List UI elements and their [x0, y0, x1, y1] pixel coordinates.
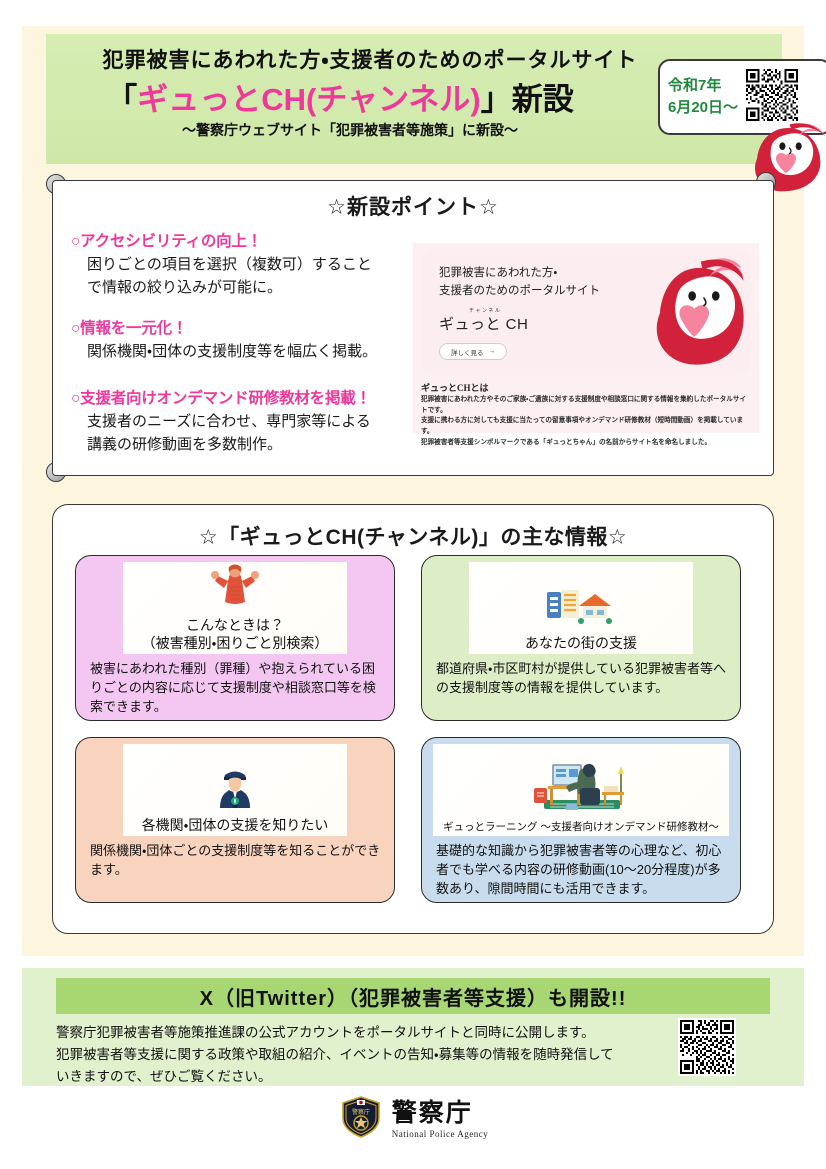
point-1-body: 困りごとの項目を選択（複数可）すること で情報の絞り込みが可能に。 — [71, 254, 437, 299]
npa-logo-text: 警察庁 National Police Agency — [392, 1101, 488, 1139]
x-twitter-body-line-1: 警察庁犯罪被害者等施策推進課の公式アカウントをポータルサイトと同時に公開します。 — [56, 1022, 656, 1044]
card-konna-toki[interactable]: こんなときは？ （被害種別・困りごと別検索） 被害にあわれた種別（罪種）や抱えら… — [75, 555, 395, 721]
header-title-open-bracket: 「 — [106, 82, 137, 117]
card-3-description: 関係機関・団体ごとの支援制度等を知ることができます。 — [90, 842, 384, 880]
header-title: 「ギュっとCH(チャンネル)」新設 — [70, 74, 610, 119]
npa-name-en: National Police Agency — [392, 1129, 488, 1139]
npa-emblem-icon: 警察庁 — [338, 1094, 384, 1145]
point-2-heading: ○情報を一元化！ — [71, 316, 437, 338]
point-item-2: ○情報を一元化！ 関係機関・団体の支援制度等を幅広く掲載。 — [71, 316, 437, 364]
card-anata-no-machi[interactable]: あなたの街の支援 都道府県・市区町村が提供している犯罪被害者等への支援制度等の情… — [421, 555, 741, 721]
card-3-caption-line1: 各機関・団体の支援を知りたい — [142, 817, 329, 835]
documents-and-building-icon — [545, 586, 617, 631]
mockup-gyutto-chan-mascot-icon — [635, 253, 745, 371]
launch-date-text: 令和7年 6月20日～ — [668, 75, 738, 119]
card-4-image-area: ギュっとラーニング ～支援者向けオンデマンド研修教材～ — [433, 744, 729, 836]
npa-name-ja: 警察庁 — [392, 1101, 488, 1126]
police-officer-icon — [213, 766, 257, 815]
point-3-heading: ○支援者向けオンデマンド研修教材を掲載！ — [71, 386, 437, 408]
card-kakukikan[interactable]: 各機関・団体の支援を知りたい 関係機関・団体ごとの支援制度等を知ることができます… — [75, 737, 395, 903]
card-2-caption-line1: あなたの街の支援 — [525, 635, 637, 653]
card-1-caption-line1: こんなときは？ — [186, 617, 284, 635]
header-note: ～警察庁ウェブサイト「犯罪被害者等施策」に新設～ — [80, 120, 620, 140]
card-3-image-area: 各機関・団体の支援を知りたい — [123, 744, 347, 836]
section2-title: ☆「ギュっとCH(チャンネル)」の主な情報☆ — [53, 521, 773, 551]
section1-title: ☆新設ポイント☆ — [53, 191, 773, 221]
svg-text:警察庁: 警察庁 — [352, 1108, 370, 1116]
launch-date-year: 令和7年 — [668, 75, 738, 97]
mockup-body-text: 犯罪被害にあわれた方やそのご家族・ご遺族に対する支援制度や相談窓口に関する情報を… — [421, 395, 751, 448]
x-twitter-title: X（旧Twitter）（犯罪被害者等支援）も開設!! — [200, 982, 627, 1011]
card-2-description: 都道府県・市区町村が提供している犯罪被害者等への支援制度等の情報を提供しています… — [436, 660, 730, 698]
mockup-detail-button-label: 詳しく見る — [451, 347, 484, 357]
card-1-description: 被害にあわれた種別（罪種）や抱えられている困りごとの内容に応じて支援制度や相談窓… — [90, 660, 384, 717]
section-x-twitter: X（旧Twitter）（犯罪被害者等支援）も開設!! 警察庁犯罪被害者等施策推進… — [22, 968, 804, 1086]
launch-date-day: 6月20日～ — [668, 97, 738, 119]
x-twitter-qr-code-icon[interactable] — [678, 1018, 736, 1081]
website-mockup: 犯罪被害にあわれた方・ 支援者のためのポータルサイト チャンネル ギュっと CH… — [413, 243, 759, 433]
mockup-body-line-1: 犯罪被害にあわれた方やそのご家族・ご遺族に対する支援制度や相談窓口に関する情報を… — [421, 395, 751, 416]
person-raising-hands-icon — [209, 564, 261, 615]
mockup-sub-heading: ギュっとCHとは — [421, 381, 489, 394]
point-2-body: 関係機関・団体の支援制度等を幅広く掲載。 — [71, 341, 437, 364]
section-new-points: ☆新設ポイント☆ ○アクセシビリティの向上！ 困りごとの項目を選択（複数可）する… — [52, 180, 774, 476]
mockup-detail-button[interactable]: 詳しく見る → — [439, 343, 507, 360]
section-main-info: ☆「ギュっとCH(チャンネル)」の主な情報☆ — [52, 504, 774, 934]
x-twitter-body-line-2: 犯罪被害者等支援に関する政策や取組の紹介、イベントの告知・募集等の情報を随時発信… — [56, 1044, 656, 1066]
mockup-hero-title-line2: 支援者のためのポータルサイト — [439, 283, 600, 301]
point-item-1: ○アクセシビリティの向上！ 困りごとの項目を選択（複数可）すること で情報の絞り… — [71, 229, 437, 299]
header-subtitle: 犯罪被害にあわれた方・支援者のためのポータルサイト — [90, 44, 650, 74]
header-title-close: 」新設 — [481, 82, 574, 117]
person-at-desk-computer-icon — [526, 752, 636, 819]
x-twitter-title-bar: X（旧Twitter）（犯罪被害者等支援）も開設!! — [56, 978, 770, 1014]
header-title-brand: ギュっとCH(チャンネル) — [137, 82, 481, 117]
x-twitter-body: 警察庁犯罪被害者等施策推進課の公式アカウントをポータルサイトと同時に公開します。… — [56, 1022, 656, 1088]
point-1-heading: ○アクセシビリティの向上！ — [71, 229, 437, 251]
card-1-image-area: こんなときは？ （被害種別・困りごと別検索） — [123, 562, 347, 654]
x-twitter-body-line-3: いきますので、ぜひご覧ください。 — [56, 1066, 656, 1088]
card-2-image-area: あなたの街の支援 — [469, 562, 693, 654]
card-4-caption-line1: ギュっとラーニング ～支援者向けオンデマンド研修教材～ — [443, 821, 719, 834]
card-4-description: 基礎的な知識から犯罪被害者等の心理など、初心者でも学べる内容の研修動画(10～2… — [436, 842, 730, 899]
mockup-hero-title-line1: 犯罪被害にあわれた方・ — [439, 265, 600, 283]
mockup-hero: 犯罪被害にあわれた方・ 支援者のためのポータルサイト チャンネル ギュっと CH… — [421, 249, 751, 375]
point-3-body: 支援者のニーズに合わせ、専門家等による 講義の研修動画を多数制作。 — [71, 411, 437, 456]
footer-npa: 警察庁 警察庁 National Police Agency — [0, 1094, 826, 1145]
card-gyutto-learning[interactable]: ギュっとラーニング ～支援者向けオンデマンド研修教材～ 基礎的な知識から犯罪被害… — [421, 737, 741, 903]
mockup-body-line-3: 犯罪被害者等支援シンボルマークである「ギュっとちゃん」の名前からサイト名を命名し… — [421, 438, 751, 449]
mockup-brand-name: ギュっと CH — [439, 313, 528, 334]
mockup-body-line-2: 支援に携わる方に対しても支援に当たっての留意事項やオンデマンド研修教材（短時間動… — [421, 416, 751, 437]
header-banner: 犯罪被害にあわれた方・支援者のためのポータルサイト 「ギュっとCH(チャンネル)… — [46, 34, 782, 164]
card-1-caption-line2: （被害種別・困りごと別検索） — [142, 635, 329, 653]
point-item-3: ○支援者向けオンデマンド研修教材を掲載！ 支援者のニーズに合わせ、専門家等による… — [71, 386, 437, 456]
arrow-right-icon: → — [489, 348, 496, 355]
mockup-hero-title: 犯罪被害にあわれた方・ 支援者のためのポータルサイト — [439, 265, 600, 301]
